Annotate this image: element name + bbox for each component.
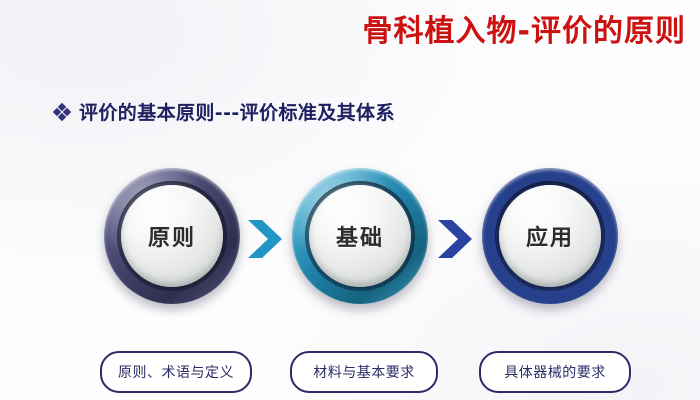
chevron-arrow-1-icon [246, 218, 286, 260]
node-label: 原则 [148, 220, 196, 252]
slide-canvas: 骨科植入物-评价的原则 评价的基本原则---评价标准及其体系 原则 基础 [0, 0, 700, 400]
caption-label: 材料与基本要求 [313, 362, 415, 382]
page-title: 骨科植入物-评价的原则 [166, 14, 686, 49]
node-disc: 原则 [121, 185, 223, 287]
caption-label: 具体器械的要求 [504, 362, 606, 382]
caption-pill-principle[interactable]: 原则、术语与定义 [100, 351, 252, 393]
caption-pill-foundation[interactable]: 材料与基本要求 [290, 351, 438, 393]
process-node-application[interactable]: 应用 [482, 168, 618, 304]
chevron-arrow-2-icon [436, 218, 476, 260]
process-flow-diagram: 原则 基础 应用 [0, 160, 700, 330]
process-node-principle[interactable]: 原则 [104, 168, 240, 304]
node-label: 基础 [336, 220, 384, 252]
caption-pill-application[interactable]: 具体器械的要求 [479, 351, 631, 393]
diamond-cluster-bullet-icon [54, 104, 70, 120]
process-node-foundation[interactable]: 基础 [292, 168, 428, 304]
caption-label: 原则、术语与定义 [118, 362, 234, 382]
node-disc: 应用 [499, 185, 601, 287]
node-disc: 基础 [309, 185, 411, 287]
bullet-heading: 评价的基本原则---评价标准及其体系 [54, 98, 395, 125]
bullet-heading-label: 评价的基本原则---评价标准及其体系 [79, 98, 395, 125]
node-label: 应用 [526, 220, 574, 252]
